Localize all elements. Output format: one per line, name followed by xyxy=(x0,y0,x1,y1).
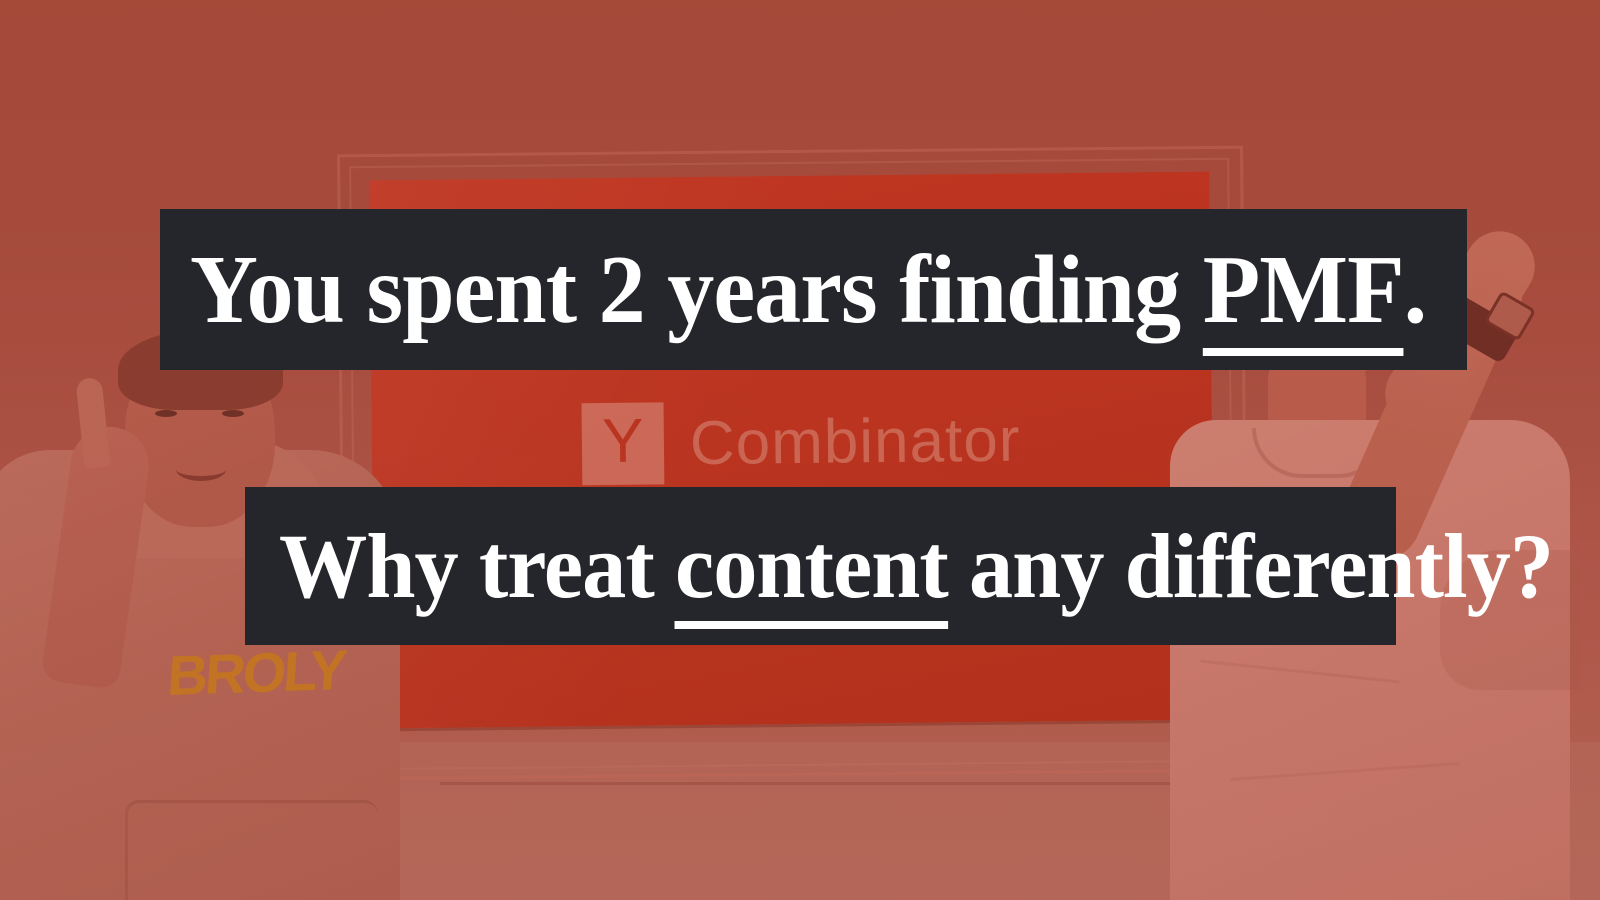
y-combinator-wordmark: Combinator xyxy=(690,404,1021,478)
headline-secondary-text: Why treat content any differently? xyxy=(279,520,1553,612)
headline-secondary-underlined: content xyxy=(675,515,948,617)
y-combinator-mark-icon: Y xyxy=(581,402,664,485)
headline-primary-after: . xyxy=(1404,236,1427,344)
headline-primary-text: You spent 2 years finding PMF. xyxy=(190,241,1426,339)
headline-banner-secondary: Why treat content any differently? xyxy=(245,487,1396,645)
person-left-eye-left xyxy=(155,410,177,417)
headline-banner-primary: You spent 2 years finding PMF. xyxy=(160,209,1467,370)
headline-secondary-after: any differently? xyxy=(948,515,1553,617)
background-photo: Y Combinator BROLY xyxy=(0,0,1600,900)
y-combinator-logo: Y Combinator xyxy=(581,399,1020,486)
person-left-smile xyxy=(176,458,226,481)
hoodie-graphic-text: BROLY xyxy=(165,637,346,708)
slide-canvas: Y Combinator BROLY xyxy=(0,0,1600,900)
headline-secondary-before: Why treat xyxy=(279,515,675,617)
person-left-hoodie-pocket xyxy=(125,800,378,900)
headline-primary-underlined: PMF xyxy=(1203,236,1404,344)
headline-primary-before: You spent 2 years finding xyxy=(190,236,1203,344)
person-left-eye-right xyxy=(222,410,244,417)
